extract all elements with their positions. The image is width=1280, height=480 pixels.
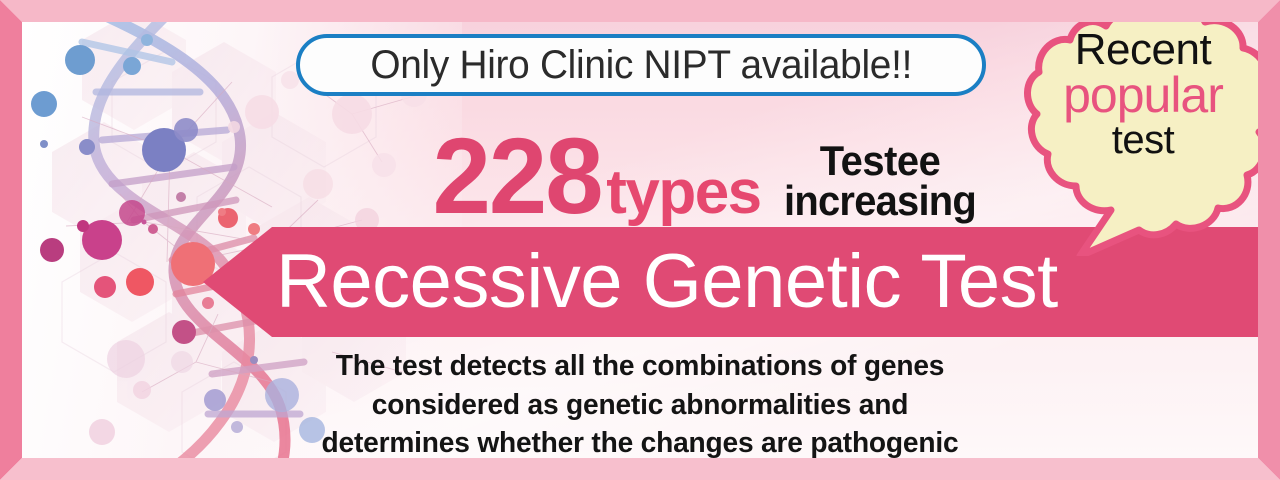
types-count: 228 [433,128,602,223]
description-line-1: The test detects all the combinations of… [223,347,1057,386]
availability-badge-label: Only Hiro Clinic NIPT available!! [370,45,912,85]
description-paragraph: The test detects all the combinations of… [210,347,1070,463]
frame-border-top [0,0,1280,22]
headline-row: 228 types Testee increasing [430,103,1070,223]
popular-test-speech-bubble [1010,4,1276,256]
types-unit-label: types [606,164,760,223]
availability-badge: Only Hiro Clinic NIPT available!! [296,34,986,96]
description-line-2: considered as genetic abnormalities and [223,386,1057,425]
testee-line-1: Testee [784,141,976,182]
frame-border-bottom [0,458,1280,480]
testee-increasing-label: Testee increasing [779,141,981,222]
promo-banner: Recessive Genetic Test Only Hiro Clinic … [0,0,1280,480]
testee-line-2: increasing [784,181,976,222]
frame-border-left [0,0,22,480]
frame-border-right [1258,0,1280,480]
banner-title: Recessive Genetic Test [276,244,1058,320]
description-line-3: determines whether the changes are patho… [223,424,1057,463]
